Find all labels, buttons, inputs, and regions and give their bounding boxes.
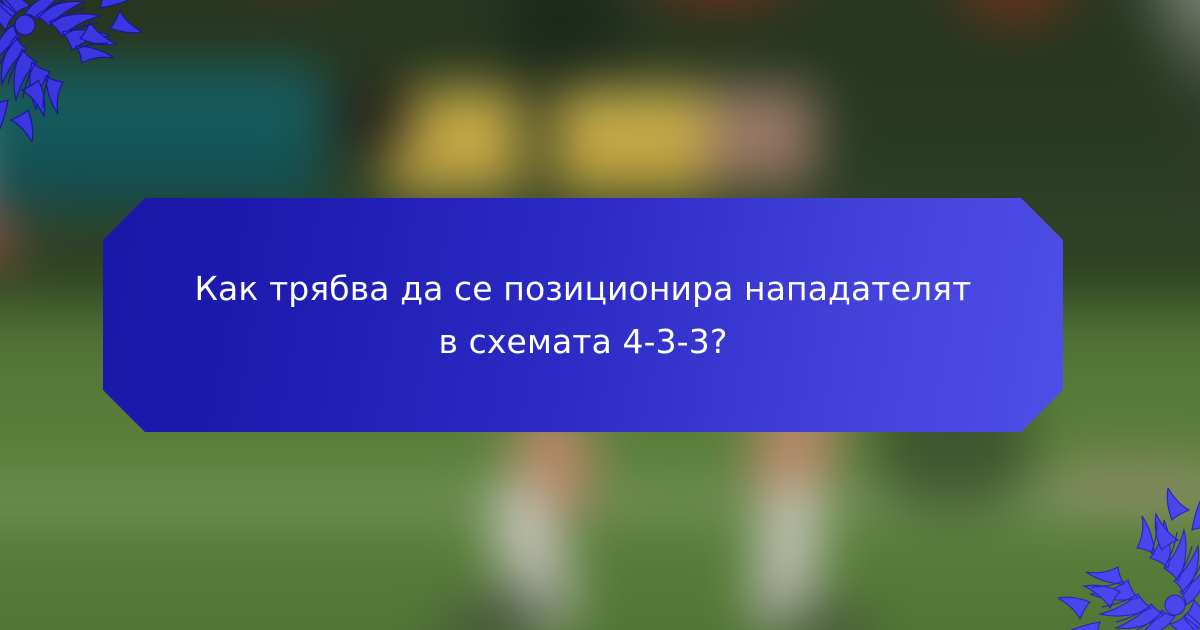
page-title: Как трябва да се позиционира нападателят… bbox=[180, 262, 986, 369]
pink-box-region bbox=[708, 89, 816, 186]
teal-structure-region bbox=[0, 65, 324, 210]
pitch-sideline bbox=[0, 492, 1200, 512]
distant-pink-blob bbox=[1045, 460, 1200, 508]
share-card: Как трябва да се позиционира нападателят… bbox=[0, 0, 1200, 630]
spectator-head-region bbox=[339, 81, 416, 154]
ochre-bench-right bbox=[554, 89, 708, 194]
question-banner: Как трябва да се позиционира нападателят… bbox=[103, 198, 1063, 432]
